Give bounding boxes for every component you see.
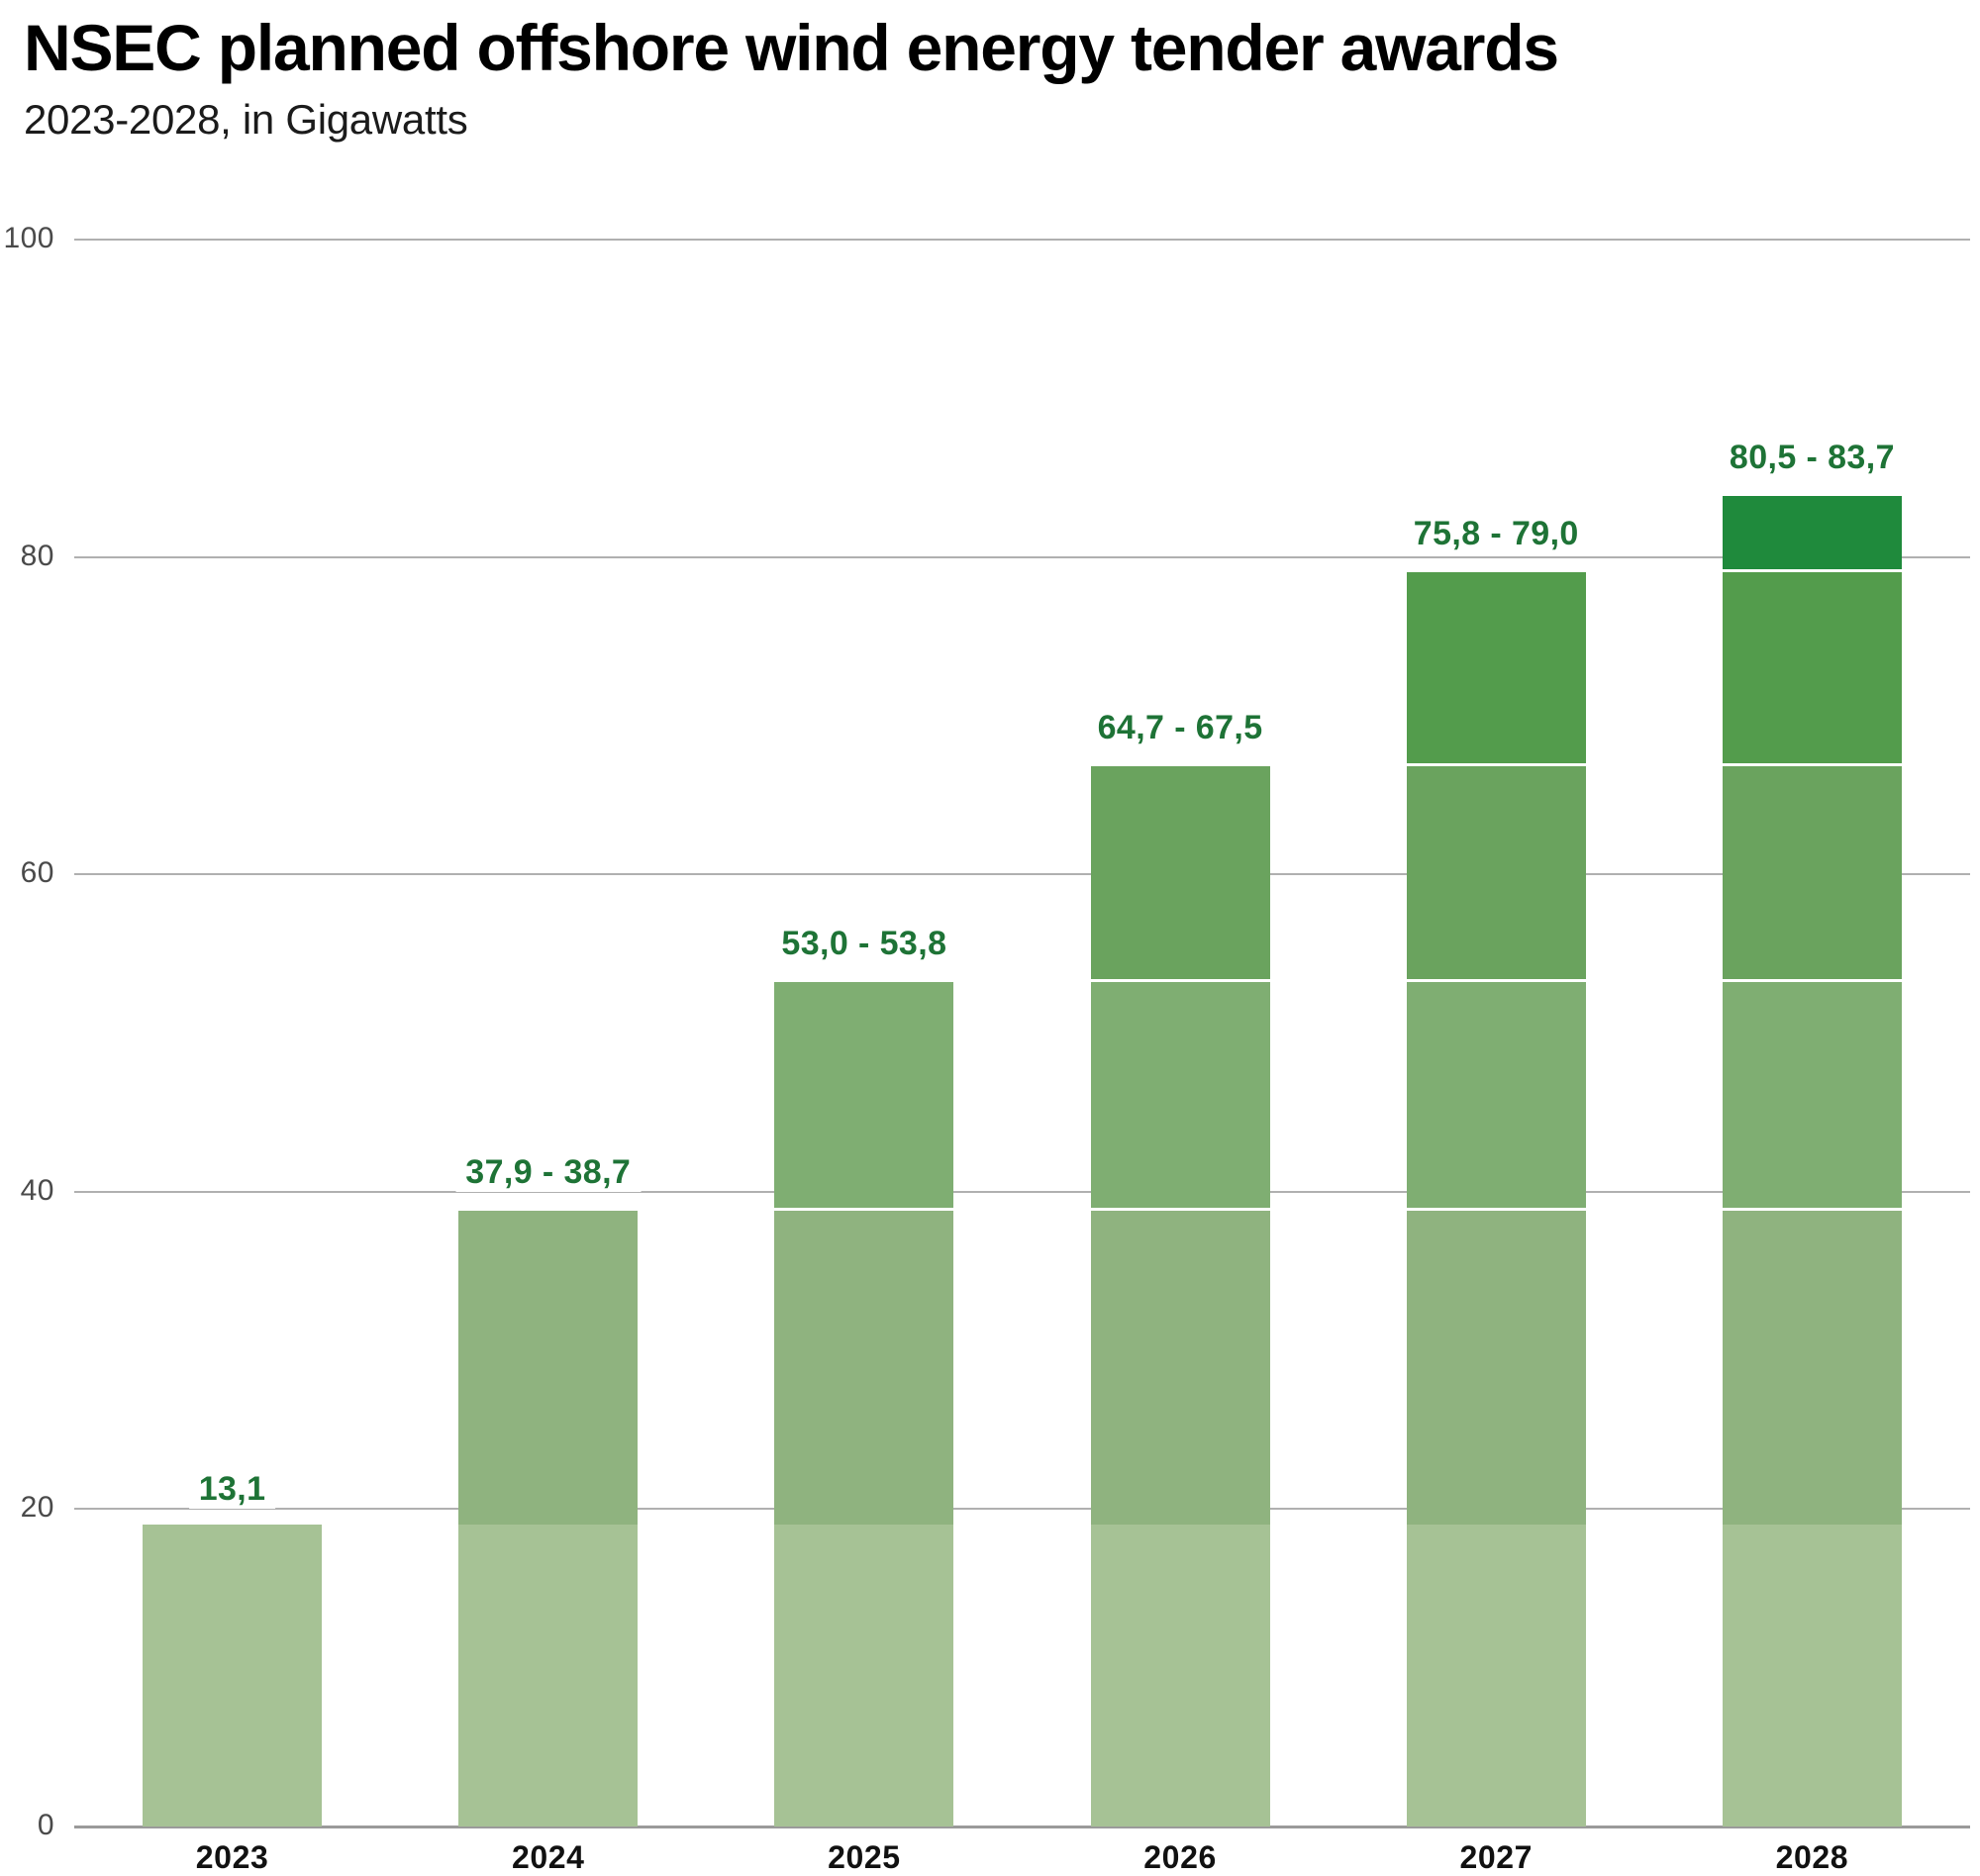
x-tick-label-2028: 2028 — [1654, 1839, 1970, 1876]
x-tick-label-2024: 2024 — [390, 1839, 706, 1876]
x-axis-labels-group: 202320242025202620272028 — [74, 0, 1970, 1850]
chart-page: NSEC planned offshore wind energy tender… — [0, 0, 1980, 1850]
y-tick-label-40: 40 — [0, 1174, 54, 1208]
y-tick-label-100: 100 — [0, 222, 54, 255]
plot-area: 020406080100 13,137,9 - 38,753,0 - 53,86… — [0, 0, 1980, 1850]
x-tick-label-2027: 2027 — [1338, 1839, 1654, 1876]
y-tick-label-20: 20 — [0, 1491, 54, 1525]
y-tick-label-60: 60 — [0, 856, 54, 890]
x-tick-label-2026: 2026 — [1023, 1839, 1338, 1876]
y-tick-label-80: 80 — [0, 540, 54, 573]
y-tick-label-0: 0 — [0, 1809, 54, 1842]
x-tick-label-2025: 2025 — [706, 1839, 1022, 1876]
x-tick-label-2023: 2023 — [74, 1839, 390, 1876]
